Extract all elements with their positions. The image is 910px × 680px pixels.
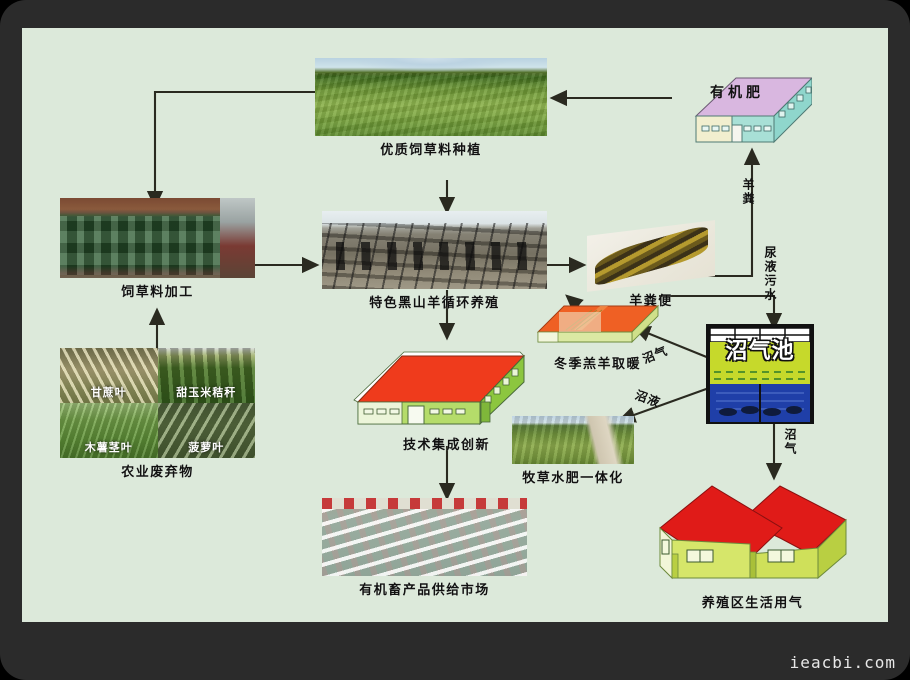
waste-quadrant-label: 菠萝叶 [158,439,256,455]
node-product-market[interactable]: 有机畜产品供给市场 [322,498,527,598]
forage-planting-photo [315,58,547,136]
node-goat-breeding[interactable]: 特色黑山羊循环养殖 [322,211,547,311]
waste-quadrant-cassava-stem: 木薯茎叶 [60,403,158,458]
feed-processing-photo [60,198,255,278]
agri-waste-label: 农业废弃物 [60,461,255,480]
node-forage-planting[interactable]: 优质饲草料种植 [315,58,547,158]
waste-quadrant-sugarcane-leaf: 甘蔗叶 [60,348,158,403]
product-market-photo [322,498,527,576]
flow-label-biogas-slurry: 沼液 [633,386,663,411]
node-agri-waste[interactable]: 甘蔗叶 甜玉米秸秆 木薯茎叶 菠萝叶 农业废弃物 [60,348,255,480]
organic-fertilizer-label: 有机肥 [662,82,812,102]
node-feed-processing[interactable]: 饲草料加工 [60,198,255,300]
waste-quadrant-sweetcorn-stalk: 甜玉米秸秆 [158,348,256,403]
forage-irrigation-label: 牧草水肥一体化 [512,467,634,486]
feed-processing-label: 饲草料加工 [60,281,255,300]
household-gas-building-icon [650,478,855,586]
node-biogas-pool[interactable]: 沼气池 [706,324,814,424]
screenshot-frame: 羊粪 尿液污水 沼气 沼液 沼气 优质饲草料种植 [0,0,910,680]
agri-waste-photo-grid: 甘蔗叶 甜玉米秸秆 木薯茎叶 菠萝叶 [60,348,255,458]
diagram-canvas: 羊粪 尿液污水 沼气 沼液 沼气 优质饲草料种植 [22,28,888,622]
node-lamb-warming[interactable]: 冬季羔羊取暖 [530,300,665,372]
site-watermark: ieacbi.com [790,653,896,672]
product-market-label: 有机畜产品供给市场 [322,579,527,598]
household-gas-label: 养殖区生活用气 [650,592,855,611]
flow-label-biogas-house: 沼气 [782,428,799,456]
waste-quadrant-label: 甘蔗叶 [60,384,158,400]
waste-quadrant-label: 木薯茎叶 [60,439,158,455]
node-forage-irrigation[interactable]: 牧草水肥一体化 [512,416,634,486]
node-goat-manure[interactable]: 羊粪便 [587,228,715,309]
biogas-pool-label: 沼气池 [706,340,814,363]
flow-label-sheep-dung: 羊粪 [740,178,757,206]
goat-manure-photo [587,220,715,292]
node-organic-fertilizer[interactable]: 有机肥 [662,70,812,166]
waste-quadrant-pineapple-leaf: 菠萝叶 [158,403,256,458]
goat-breeding-photo [322,211,547,289]
lamb-warming-building-icon [530,300,665,348]
waste-quadrant-label: 甜玉米秸秆 [158,384,256,400]
forage-irrigation-photo [512,416,634,464]
forage-planting-label: 优质饲草料种植 [315,139,547,158]
tech-innovation-building-icon [344,338,549,428]
flow-label-urine-sewage: 尿液污水 [762,246,779,302]
lamb-warming-label: 冬季羔羊取暖 [530,353,665,372]
goat-breeding-label: 特色黑山羊循环养殖 [322,292,547,311]
node-household-gas[interactable]: 养殖区生活用气 [650,478,855,611]
